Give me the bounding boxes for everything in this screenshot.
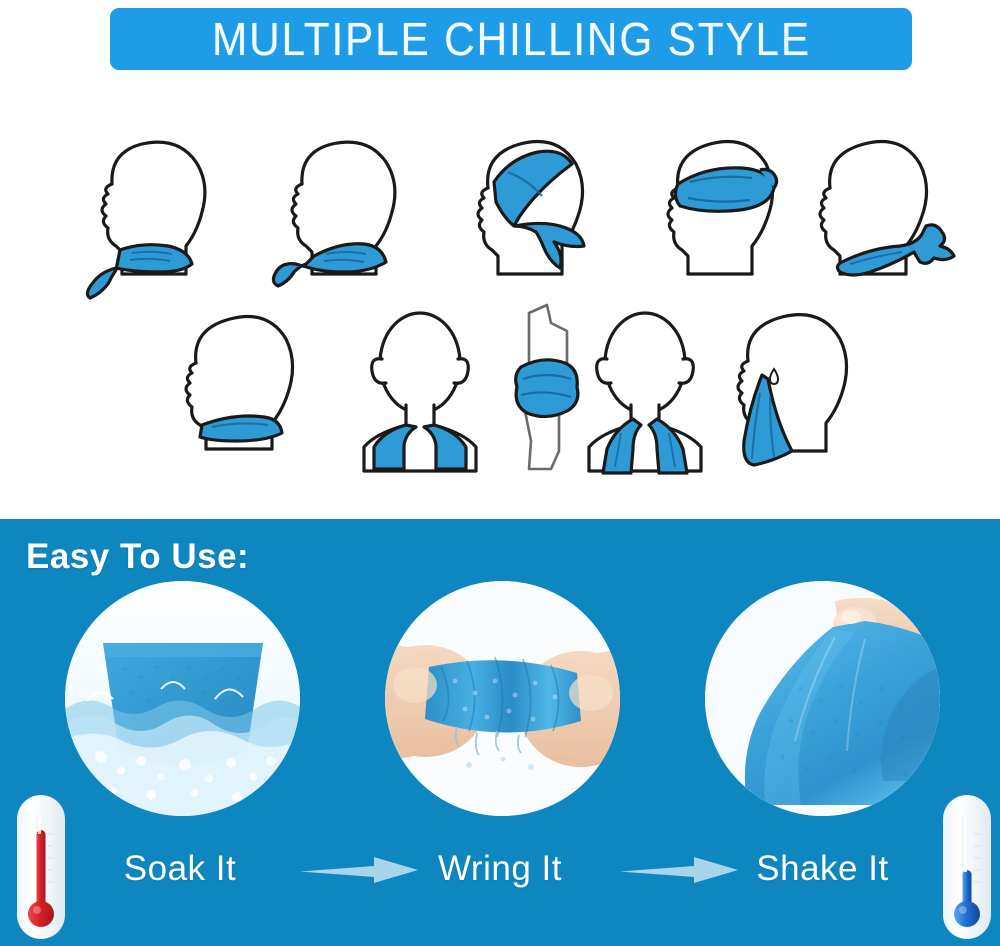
photo-hand-shaking-towel [705,581,940,816]
usage-photos [0,581,1000,831]
thermometer-cold-icon [938,792,996,942]
style-neck-scarf-front-knot [50,122,250,297]
usage-steps: Soak It Wring It Shake It [0,845,1000,907]
photo-towel-dipping-in-water [65,581,300,816]
style-neck-collar-wrap [140,301,340,476]
styles-row-1 [0,122,1000,297]
infographic-page: MULTIPLE CHILLING STYLE [0,0,1000,946]
thermometer-hot-icon [12,792,70,942]
page-title: MULTIPLE CHILLING STYLE [212,16,811,62]
easy-to-use-heading: Easy To Use: [26,537,249,577]
step-label-soak: Soak It [60,845,300,893]
step-label-shake: Shake It [700,845,945,893]
styles-row-2 [0,301,1000,476]
style-neck-scarf-side-knot [240,122,440,297]
chilling-styles-illustrations [0,96,1000,506]
title-banner: MULTIPLE CHILLING STYLE [110,8,912,70]
style-neck-scarf-back-knot [790,122,990,297]
photo-hands-wringing-towel [385,581,620,816]
style-face-wipe [700,301,900,476]
step-label-wring: Wring It [380,845,620,893]
style-pirate-head-wrap [430,122,630,297]
